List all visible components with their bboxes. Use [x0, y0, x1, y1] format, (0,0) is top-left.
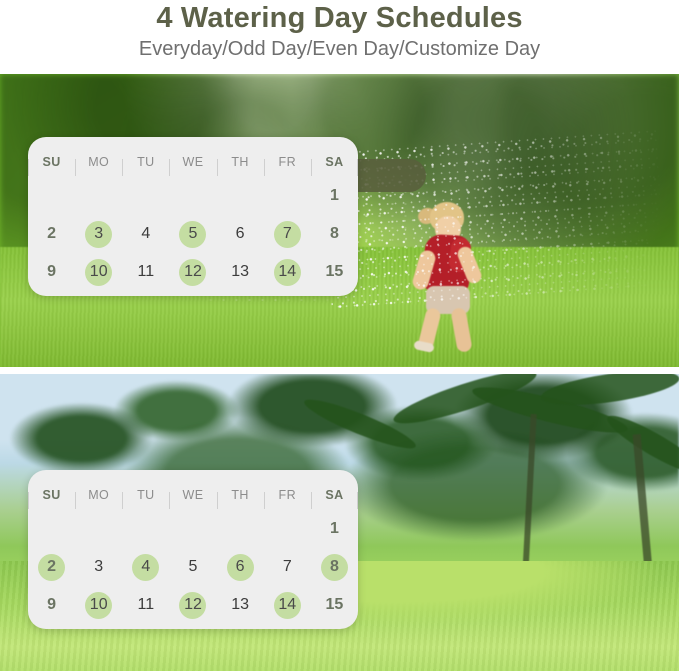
day-header-we: WE [169, 155, 216, 169]
day-cell-10[interactable]: 10 [85, 592, 112, 619]
day-cell-8[interactable]: 8 [321, 554, 348, 581]
day-header-fr: FR [264, 155, 311, 169]
day-cell-7[interactable]: 7 [274, 554, 301, 581]
day-cell-1[interactable]: 1 [321, 183, 348, 210]
day-cell-14[interactable]: 14 [274, 259, 301, 286]
calendar-week-row: 1 [28, 510, 358, 548]
day-cell-14[interactable]: 14 [274, 592, 301, 619]
calendar-week-row: 1 [28, 177, 358, 215]
day-cell-3[interactable]: 3 [85, 554, 112, 581]
day-cell-13[interactable]: 13 [227, 259, 254, 286]
day-cell-8[interactable]: 8 [321, 221, 348, 248]
day-cell-2[interactable]: 2 [38, 554, 65, 581]
day-header-sa: SA [311, 488, 358, 502]
day-header-su: SU [28, 155, 75, 169]
calendar-customize-day[interactable]: SU MO TU WE TH FR SA 1 2 3 4 5 6 7 8 9 [28, 137, 358, 296]
day-cell-9[interactable]: 9 [38, 592, 65, 619]
day-cell-6[interactable]: 6 [227, 221, 254, 248]
day-cell-9[interactable]: 9 [38, 259, 65, 286]
day-cell-5[interactable]: 5 [179, 221, 206, 248]
day-header-su: SU [28, 488, 75, 502]
infographic-page: 4 Watering Day Schedules Everyday/Odd Da… [0, 0, 679, 671]
day-header-sa: SA [311, 155, 358, 169]
day-header-tu: TU [122, 488, 169, 502]
day-cell-11[interactable]: 11 [132, 592, 159, 619]
page-subtitle: Everyday/Odd Day/Even Day/Customize Day [0, 38, 679, 61]
calendar-week-row: 2 3 4 5 6 7 8 [28, 548, 358, 586]
day-cell-4[interactable]: 4 [132, 554, 159, 581]
day-header-mo: MO [75, 155, 122, 169]
day-cell-11[interactable]: 11 [132, 259, 159, 286]
day-header-th: TH [217, 488, 264, 502]
calendar-day-headers: SU MO TU WE TH FR SA [28, 147, 358, 177]
calendar-week-row: 2 3 4 5 6 7 8 [28, 215, 358, 253]
day-cell-15[interactable]: 15 [321, 259, 348, 286]
day-header-we: WE [169, 488, 216, 502]
page-title: 4 Watering Day Schedules [0, 2, 679, 35]
day-header-tu: TU [122, 155, 169, 169]
day-cell-5[interactable]: 5 [179, 554, 206, 581]
calendar-week-row: 9 10 11 12 13 14 15 [28, 253, 358, 291]
calendar-day-headers: SU MO TU WE TH FR SA [28, 480, 358, 510]
calendar-even-odd-day[interactable]: SU MO TU WE TH FR SA 1 2 3 4 5 6 7 8 9 [28, 470, 358, 629]
header: 4 Watering Day Schedules Everyday/Odd Da… [0, 0, 679, 74]
day-cell-4[interactable]: 4 [132, 221, 159, 248]
day-cell-3[interactable]: 3 [85, 221, 112, 248]
day-header-mo: MO [75, 488, 122, 502]
water-droplets-spray [321, 127, 671, 314]
day-cell-7[interactable]: 7 [274, 221, 301, 248]
day-cell-13[interactable]: 13 [227, 592, 254, 619]
day-cell-1[interactable]: 1 [321, 516, 348, 543]
day-cell-10[interactable]: 10 [85, 259, 112, 286]
day-header-fr: FR [264, 488, 311, 502]
day-cell-2[interactable]: 2 [38, 221, 65, 248]
calendar-week-row: 9 10 11 12 13 14 15 [28, 586, 358, 624]
day-cell-6[interactable]: 6 [227, 554, 254, 581]
day-header-th: TH [217, 155, 264, 169]
day-cell-15[interactable]: 15 [321, 592, 348, 619]
day-cell-12[interactable]: 12 [179, 259, 206, 286]
day-cell-12[interactable]: 12 [179, 592, 206, 619]
